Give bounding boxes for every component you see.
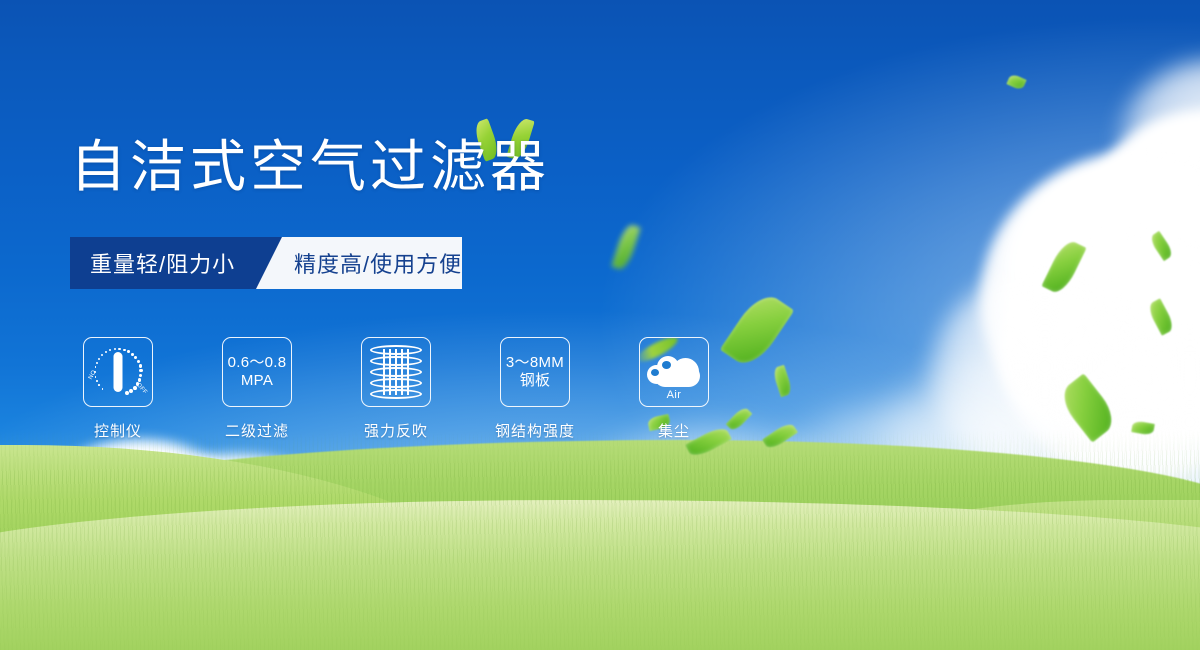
filter-stack-icon <box>370 345 422 399</box>
feature-item-reverse-blow[interactable]: 强力反吹 <box>348 337 444 441</box>
gauge-tick-dot <box>139 364 142 367</box>
gauge-tick-dot <box>129 389 133 393</box>
gauge-tick-dot <box>109 349 111 351</box>
gauge-tick-dot <box>94 371 96 373</box>
pressure-range-value: 0.6～0.8 <box>228 354 287 371</box>
feature-item-steel-strength[interactable]: 3～8MM 钢板 钢结构强度 <box>487 337 583 441</box>
grass-field <box>0 420 1200 650</box>
gauge-needle <box>114 352 123 392</box>
filter-disc <box>370 356 422 366</box>
gauge-tick-dot <box>105 351 107 353</box>
filter-disc <box>370 389 422 399</box>
grass-highlight <box>0 450 1200 650</box>
subtitle-bar: 重量轻/阻力小 精度高/使用方便 <box>70 237 462 289</box>
feature-box[interactable]: 0.6～0.8 MPA <box>222 337 292 407</box>
gauge-on-label: NO <box>88 369 98 380</box>
gauge-tick-dot <box>98 384 100 386</box>
feature-label: 控制仪 <box>94 420 142 441</box>
gauge-tick-dot <box>114 348 116 350</box>
gauge-tick-dot <box>125 391 129 395</box>
gauge-tick-dot <box>133 386 137 390</box>
gauge-tick-dot <box>95 376 97 378</box>
cloud-cut <box>651 369 659 376</box>
feature-icon-row: NO OFF 控制仪 0.6～0.8 MPA 二级过滤 <box>70 337 722 441</box>
gauge-tick-dot <box>123 349 126 352</box>
steel-plate-text-icon: 3～8MM 钢板 <box>506 354 564 389</box>
filter-disc <box>370 367 422 377</box>
gauge-tick-dot <box>137 360 140 363</box>
feature-box[interactable]: Air <box>639 337 709 407</box>
air-filter-hero-banner: 自洁式空气过滤器 重量轻/阻力小 精度高/使用方便 NO OFF 控制仪 0.6… <box>0 0 1200 650</box>
filter-disc <box>370 345 422 355</box>
pressure-text-icon: 0.6～0.8 MPA <box>228 354 287 389</box>
gauge-tick-dot <box>96 380 98 382</box>
feature-label: 二级过滤 <box>225 420 289 441</box>
feature-label: 强力反吹 <box>364 420 428 441</box>
gauge-tick-dot <box>101 354 103 356</box>
gauge-tick-dot <box>95 366 97 368</box>
gauge-tick-dot <box>138 378 142 382</box>
steel-thickness-value: 3～8MM <box>506 354 564 371</box>
control-gauge-icon: NO OFF <box>87 341 149 403</box>
gauge-tick-dot <box>127 350 130 353</box>
gauge-tick-dot <box>139 369 142 372</box>
feature-item-two-stage-filter[interactable]: 0.6～0.8 MPA 二级过滤 <box>209 337 305 441</box>
gauge-tick-dot <box>134 356 137 359</box>
gauge-tick-dot <box>131 353 134 356</box>
feature-box[interactable]: NO OFF <box>83 337 153 407</box>
air-caption: Air <box>644 389 704 401</box>
subtitle-left-text: 重量轻/阻力小 <box>90 237 235 289</box>
feature-item-control-gauge[interactable]: NO OFF 控制仪 <box>70 337 166 441</box>
steel-plate-label: 钢板 <box>506 372 564 390</box>
pressure-unit: MPA <box>228 372 287 390</box>
feature-label: 钢结构强度 <box>495 420 575 441</box>
cloud-body <box>654 365 700 387</box>
filter-disc <box>370 378 422 388</box>
feature-label: 集尘 <box>658 420 690 441</box>
gauge-tick-dot <box>102 388 104 390</box>
air-cloud-icon: Air <box>644 345 704 399</box>
gauge-tick-dot <box>118 348 120 350</box>
feature-box[interactable] <box>361 337 431 407</box>
gauge-tick-dot <box>96 362 98 364</box>
page-title: 自洁式空气过滤器 <box>70 139 550 195</box>
feature-item-dust-collection[interactable]: Air 集尘 <box>626 337 722 441</box>
subtitle-right-text: 精度高/使用方便 <box>294 237 462 289</box>
feature-box[interactable]: 3～8MM 钢板 <box>500 337 570 407</box>
cloud-cut <box>662 361 671 369</box>
gauge-tick-dot <box>98 358 100 360</box>
gauge-tick-dot <box>139 374 142 377</box>
